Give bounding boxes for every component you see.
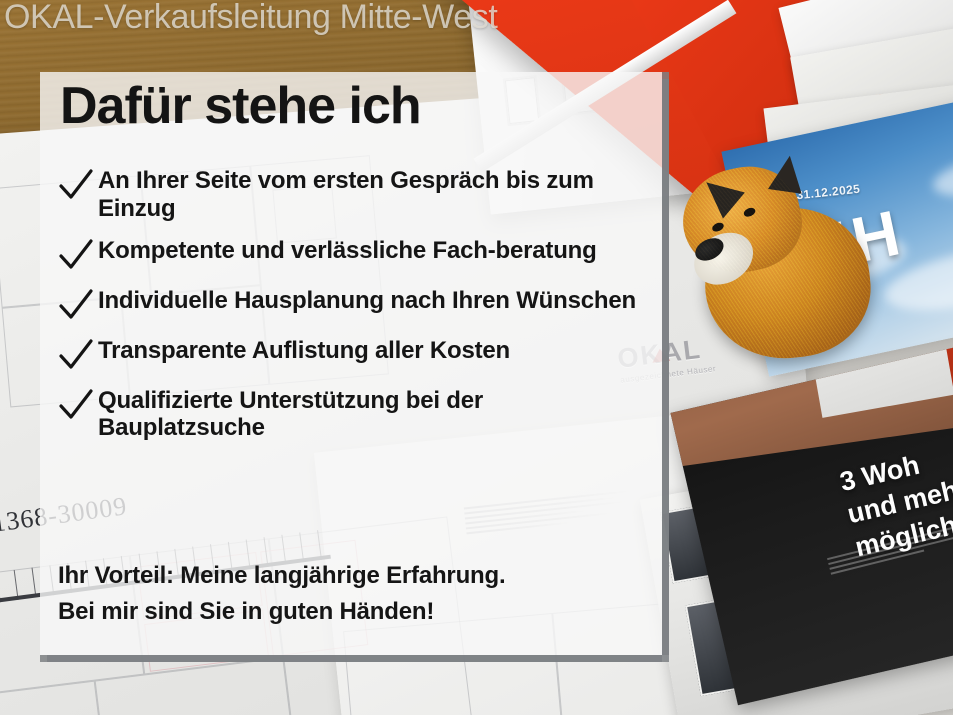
closing-statement: Ihr Vorteil: Meine langjährige Erfahrung… [58,559,648,629]
list-item-label: Transparente Auflistung aller Kosten [98,337,510,365]
fox-ear-left [695,169,744,218]
list-item: Individuelle Hausplanung nach Ihren Wüns… [58,287,648,323]
cloud-shape [929,146,953,204]
panel-heading: Dafür stehe ich [60,76,421,136]
fox-eye-left [711,221,725,233]
check-icon [58,389,98,423]
check-icon [58,339,98,373]
fox-ear-right [768,153,807,193]
closing-line-2: Bei mir sind Sie in guten Händen! [58,595,648,629]
benefit-list: An Ihrer Seite vom ersten Gespräch bis z… [58,167,648,456]
fox-figurine [675,150,890,365]
check-icon [58,169,98,203]
list-item: Kompetente und verlässliche Fach-beratun… [58,237,648,273]
check-icon [58,239,98,273]
check-icon [58,289,98,323]
list-item: Qualifizierte Unterstützung bei der Baup… [58,387,648,443]
closing-line-1: Ihr Vorteil: Meine langjährige Erfahrung… [58,559,648,593]
content-panel: Dafür stehe ich An Ihrer Seite vom erste… [40,72,662,655]
poster-canvas: 1368-30009 OKAL ausgezeichnete Häuser [0,0,953,715]
list-item-label: Kompetente und verlässliche Fach-beratun… [98,237,597,265]
list-item-label: Individuelle Hausplanung nach Ihren Wüns… [98,287,636,315]
fox-eye-right [742,206,756,218]
page-title: OKAL-Verkaufsleitung Mitte-West [4,0,497,37]
list-item: An Ihrer Seite vom ersten Gespräch bis z… [58,167,648,223]
list-item: Transparente Auflistung aller Kosten [58,337,648,373]
list-item-label: An Ihrer Seite vom ersten Gespräch bis z… [98,167,646,223]
list-item-label: Qualifizierte Unterstützung bei der Baup… [98,387,646,443]
